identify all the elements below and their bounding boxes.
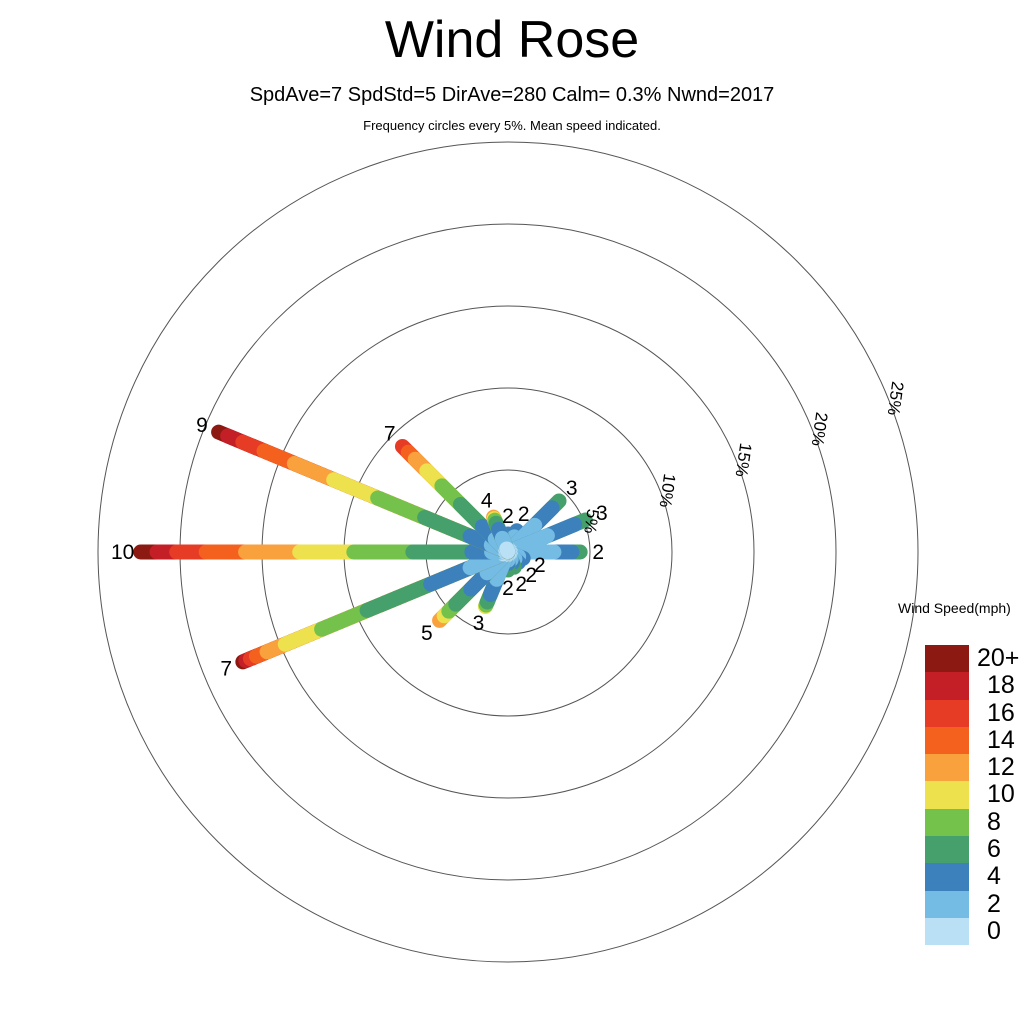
petal-segment — [507, 549, 508, 552]
legend-swatch — [925, 809, 969, 836]
legend-label: 8 — [987, 809, 1001, 836]
legend-swatch — [925, 836, 969, 863]
legend-label: 18 — [987, 672, 1015, 699]
legend-label: 14 — [987, 727, 1015, 754]
legend-swatch — [925, 918, 969, 945]
legend-row: 2 — [925, 891, 969, 918]
petal-mean-speed-label: 3 — [596, 502, 608, 525]
legend-title: Wind Speed(mph) — [898, 600, 1011, 616]
legend-swatch — [925, 891, 969, 918]
petal-mean-speed-label: 9 — [196, 414, 208, 437]
legend-row: 16 — [925, 700, 969, 727]
wind-rose-plot: 5%10%15%20%25% 22332222235710974 — [0, 0, 1024, 1024]
legend-row: 18 — [925, 672, 969, 699]
legend-swatch — [925, 727, 969, 754]
petal — [243, 552, 508, 662]
legend-row: 14 — [925, 727, 969, 754]
legend-label: 6 — [987, 836, 1001, 863]
petal-mean-speed-label: 3 — [473, 612, 485, 635]
petal-mean-speed-label: 2 — [502, 505, 514, 528]
ring-labels: 5%10%15%20%25% — [580, 380, 907, 535]
petal-mean-speed-label: 10 — [111, 541, 134, 564]
legend-row: 10 — [925, 781, 969, 808]
petal-mean-speed-label: 2 — [592, 541, 604, 564]
legend-row: 20+ — [925, 645, 969, 672]
legend-swatch — [925, 672, 969, 699]
petal-mean-speed-label: 7 — [384, 423, 396, 446]
petal-mean-speed-label: 2 — [502, 577, 514, 600]
legend-swatch — [925, 863, 969, 890]
legend-swatch — [925, 700, 969, 727]
legend: 20+181614121086420 — [925, 645, 969, 945]
ring-label: 25% — [884, 380, 908, 416]
legend-label: 4 — [987, 863, 1001, 890]
petal-mean-speed-label: 4 — [481, 490, 493, 513]
ring-label: 15% — [732, 442, 756, 478]
petal-mean-speed-label: 3 — [566, 477, 578, 500]
legend-swatch — [925, 645, 969, 672]
petal-mean-speed-label: 5 — [421, 622, 433, 645]
legend-swatch — [925, 781, 969, 808]
petal-mean-speed-label: 2 — [525, 564, 537, 587]
legend-label: 2 — [987, 891, 1001, 918]
petal-mean-speed-label: 7 — [220, 658, 232, 681]
legend-swatch — [925, 754, 969, 781]
legend-row: 0 — [925, 918, 969, 945]
legend-label: 0 — [987, 918, 1001, 945]
legend-row: 6 — [925, 836, 969, 863]
ring-label: 20% — [808, 411, 832, 447]
petal-mean-speed-label: 2 — [518, 503, 530, 526]
petal-mean-speed-label: 2 — [515, 573, 527, 596]
wind-rose-page: Wind Rose SpdAve=7 SpdStd=5 DirAve=280 C… — [0, 0, 1024, 1024]
legend-label: 20+ — [977, 645, 1019, 672]
petal — [219, 432, 508, 552]
legend-row: 12 — [925, 754, 969, 781]
legend-label: 12 — [987, 754, 1015, 781]
legend-row: 8 — [925, 809, 969, 836]
ring-label: 10% — [656, 472, 680, 508]
petals — [141, 432, 586, 662]
legend-label: 10 — [987, 781, 1015, 808]
legend-label: 16 — [987, 700, 1015, 727]
legend-row: 4 — [925, 863, 969, 890]
